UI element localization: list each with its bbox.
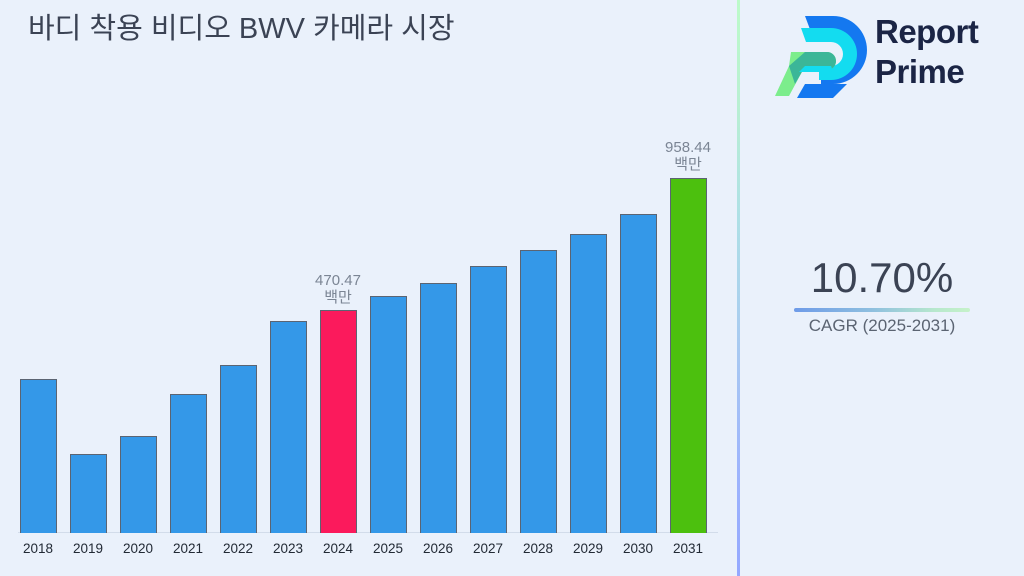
brand-logo[interactable]: Report Prime — [775, 8, 1015, 103]
side-panel: Report Prime 10.70% CAGR (2025-2031) — [740, 0, 1024, 576]
bar-label-2024-value: 470.47 — [315, 272, 361, 289]
bar-label-2024-unit: 백만 — [278, 289, 398, 306]
cagr-caption: CAGR (2025-2031) — [740, 315, 1024, 337]
bar-2025[interactable] — [370, 296, 407, 533]
bar-2030[interactable] — [620, 214, 657, 533]
bar-label-2031-value: 958.44 — [665, 139, 711, 156]
brand-wordmark-line1: Report — [875, 12, 1020, 52]
bar-label-2024: 470.47 백만 — [278, 272, 398, 306]
cagr-divider — [794, 308, 970, 312]
bar-2029[interactable] — [570, 234, 607, 533]
bar-2026[interactable] — [420, 283, 457, 533]
bar-2028[interactable] — [520, 250, 557, 533]
bar-2023[interactable] — [270, 321, 307, 533]
bar-2022[interactable] — [220, 365, 257, 533]
brand-wordmark-line2: Prime — [875, 52, 1020, 92]
bar-2031-forecast[interactable] — [670, 178, 707, 533]
x-label-2031: 2031 — [658, 541, 718, 557]
bar-chart: 470.47 백만 958.44 백만 2018 2019 2020 2021 … — [0, 0, 737, 576]
bar-2024-highlight[interactable] — [320, 310, 357, 533]
bar-2019[interactable] — [70, 454, 107, 533]
bar-2027[interactable] — [470, 266, 507, 533]
bar-label-2031: 958.44 백만 — [628, 139, 748, 173]
bar-2021[interactable] — [170, 394, 207, 533]
brand-wordmark: Report Prime — [875, 12, 1020, 92]
bar-2018[interactable] — [20, 379, 57, 533]
cagr-value: 10.70% — [740, 252, 1024, 304]
report-prime-logo-mark-icon — [775, 10, 875, 102]
cagr-block: 10.70% CAGR (2025-2031) — [740, 252, 1024, 337]
bar-2020[interactable] — [120, 436, 157, 533]
bar-label-2031-unit: 백만 — [628, 156, 748, 173]
infographic-root: 바디 착용 비디오 BWV 카메라 시장 470.47 백만 958.44 백만… — [0, 0, 1024, 576]
